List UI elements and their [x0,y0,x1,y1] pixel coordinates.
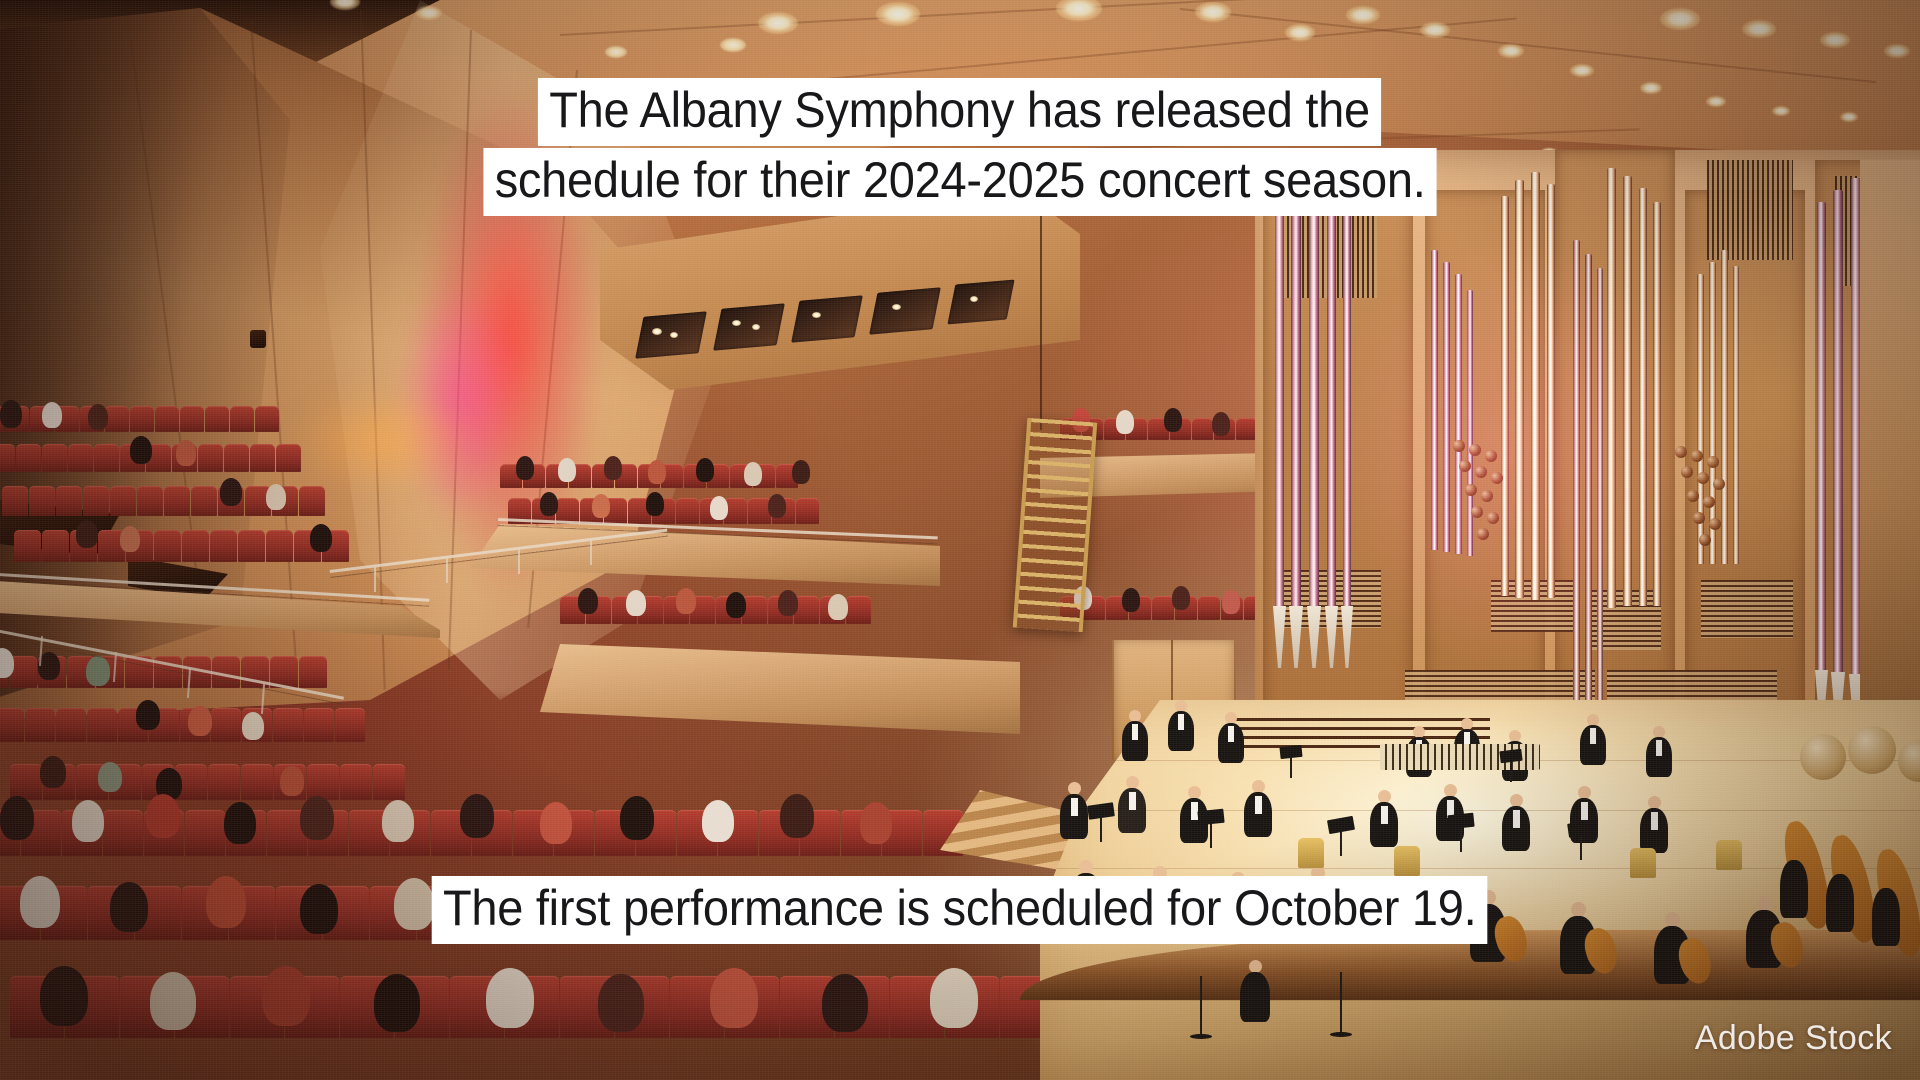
timpani-section [1800,710,1920,800]
aisle-railing [0,606,370,726]
soffit-light-slots [600,280,1120,400]
video-frame: The Albany Symphony has released the sch… [0,0,1920,1080]
scaffold-ladder [1013,418,1097,632]
caption-overlay-top: The Albany Symphony has released the sch… [0,78,1920,216]
adobe-stock-watermark: Adobe Stock [1695,1019,1892,1058]
caption-top-line-2: schedule for their 2024-2025 concert sea… [483,148,1436,216]
balcony-railing-center [330,560,690,650]
caption-overlay-bottom: The first performance is scheduled for O… [0,876,1920,944]
rigging-cable [1040,190,1042,430]
caption-top-line-1: The Albany Symphony has released the [538,78,1381,146]
caption-bottom-line-1: The first performance is scheduled for O… [432,876,1488,944]
right-side-wall [1860,160,1920,720]
